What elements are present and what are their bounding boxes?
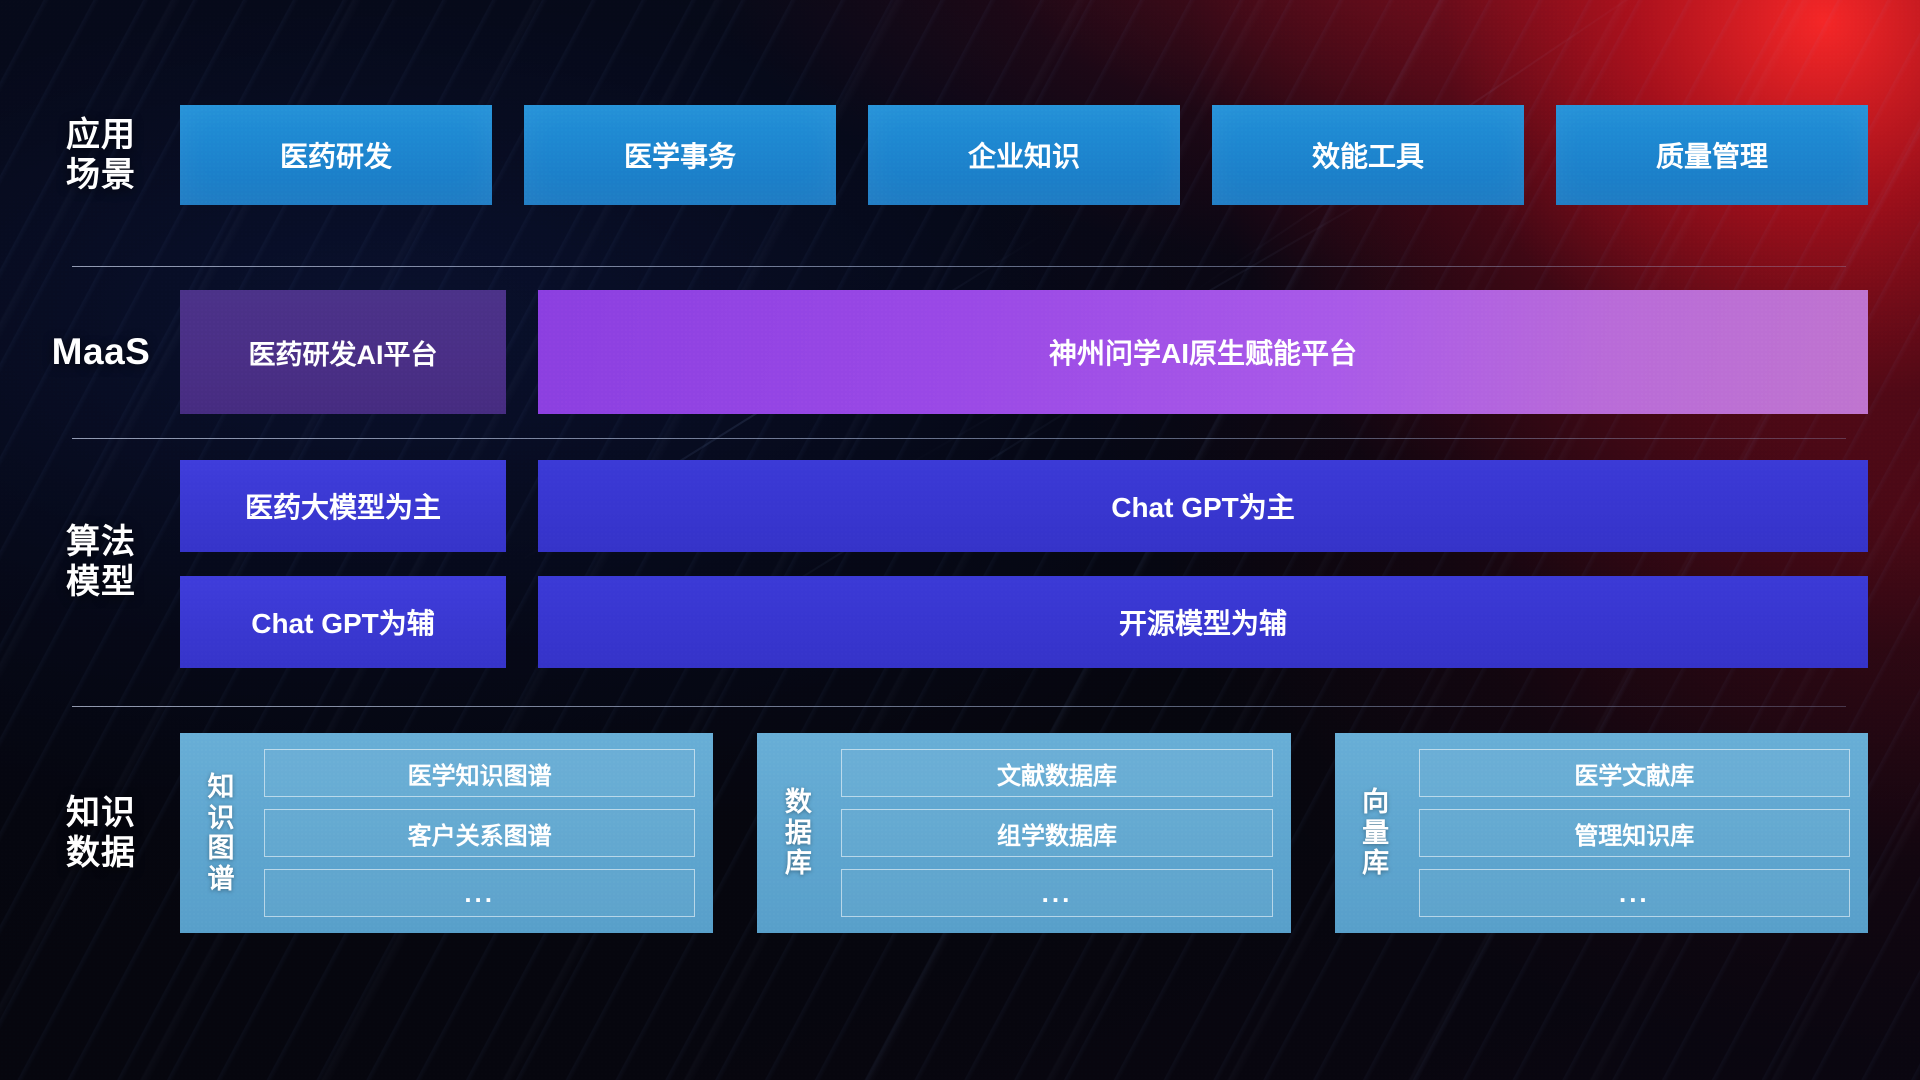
diagram-canvas: 应用 场景 医药研发 医学事务 企业知识 效能工具 质量管理 MaaS (0, 0, 1920, 1080)
knowledge-card-database[interactable]: 数 据 库 文献数据库 组学数据库 ... (757, 733, 1290, 933)
knowledge-item-label: 文献数据库 (997, 756, 1117, 791)
knowledge-item-more[interactable]: ... (841, 869, 1272, 917)
maas-box-medicine-ai-platform[interactable]: 医药研发AI平台 (180, 290, 506, 414)
vlabel-char: 数 (785, 787, 812, 818)
knowledge-item-label: ... (1042, 878, 1073, 909)
knowledge-item[interactable]: 管理知识库 (1419, 809, 1850, 857)
knowledge-card-vertical-label: 向 量 库 (1345, 745, 1407, 921)
algo-box-label: Chat GPT为辅 (251, 602, 435, 642)
row-label-application-line2: 场景 (22, 155, 180, 195)
row-label-application-line1: 应用 (22, 115, 180, 155)
app-box-label: 医学事务 (624, 135, 736, 175)
vlabel-char: 库 (785, 848, 812, 879)
algo-box-opensource-secondary[interactable]: 开源模型为辅 (538, 576, 1868, 668)
algo-box-label: Chat GPT为主 (1111, 486, 1295, 526)
knowledge-item-label: 客户关系图谱 (408, 816, 552, 851)
app-box-label: 医药研发 (280, 135, 392, 175)
vlabel-char: 知 (208, 772, 235, 803)
maas-boxes-container: 医药研发AI平台 神州问学AI原生赋能平台 (180, 290, 1920, 414)
knowledge-item[interactable]: 医学文献库 (1419, 749, 1850, 797)
algorithm-row-secondary: Chat GPT为辅 开源模型为辅 (180, 576, 1868, 668)
knowledge-item-label: 组学数据库 (997, 816, 1117, 851)
vlabel-char: 图 (208, 833, 235, 864)
knowledge-item-label: ... (1619, 878, 1650, 909)
knowledge-card-items: 文献数据库 组学数据库 ... (829, 745, 1276, 921)
divider-after-maas (72, 438, 1846, 439)
algo-box-chatgpt-secondary[interactable]: Chat GPT为辅 (180, 576, 506, 668)
app-box-label: 质量管理 (1656, 135, 1768, 175)
vlabel-char: 据 (785, 818, 812, 849)
knowledge-item-label: 医学知识图谱 (408, 756, 552, 791)
row-label-algorithm-line2: 模型 (22, 562, 180, 602)
knowledge-card-items: 医学文献库 管理知识库 ... (1407, 745, 1854, 921)
row-label-knowledge-line1: 知识 (22, 793, 180, 833)
app-box-medical-affairs[interactable]: 医学事务 (524, 105, 836, 205)
knowledge-cards-container: 知 识 图 谱 医学知识图谱 客户关系图谱 ... (180, 733, 1920, 933)
app-box-efficiency-tools[interactable]: 效能工具 (1212, 105, 1524, 205)
row-label-maas: MaaS (0, 330, 180, 374)
knowledge-item-more[interactable]: ... (1419, 869, 1850, 917)
algo-box-medicine-llm-primary[interactable]: 医药大模型为主 (180, 460, 506, 552)
knowledge-card-vector-store[interactable]: 向 量 库 医学文献库 管理知识库 ... (1335, 733, 1868, 933)
divider-after-application (72, 266, 1846, 267)
row-label-algorithm-line1: 算法 (22, 522, 180, 562)
app-box-medicine-rnd[interactable]: 医药研发 (180, 105, 492, 205)
knowledge-item[interactable]: 组学数据库 (841, 809, 1272, 857)
maas-box-label: 医药研发AI平台 (249, 333, 438, 372)
knowledge-item[interactable]: 文献数据库 (841, 749, 1272, 797)
app-box-enterprise-knowledge[interactable]: 企业知识 (868, 105, 1180, 205)
application-boxes-container: 医药研发 医学事务 企业知识 效能工具 质量管理 (180, 105, 1920, 205)
row-label-maas-text: MaaS (22, 330, 180, 374)
knowledge-item[interactable]: 医学知识图谱 (264, 749, 695, 797)
knowledge-card-knowledge-graph[interactable]: 知 识 图 谱 医学知识图谱 客户关系图谱 ... (180, 733, 713, 933)
vlabel-char: 量 (1362, 818, 1389, 849)
layer-application-scenarios: 应用 场景 医药研发 医学事务 企业知识 效能工具 质量管理 (0, 105, 1920, 205)
knowledge-item-label: 管理知识库 (1574, 816, 1694, 851)
algorithm-row-primary: 医药大模型为主 Chat GPT为主 (180, 460, 1868, 552)
algorithm-rows-container: 医药大模型为主 Chat GPT为主 Chat GPT为辅 开源模型为辅 (180, 460, 1920, 668)
vlabel-char: 向 (1362, 787, 1389, 818)
app-box-label: 企业知识 (968, 135, 1080, 175)
layer-maas: MaaS 医药研发AI平台 神州问学AI原生赋能平台 (0, 290, 1920, 414)
vlabel-char: 谱 (208, 864, 235, 895)
row-label-knowledge-line2: 数据 (22, 833, 180, 873)
knowledge-card-vertical-label: 知 识 图 谱 (190, 745, 252, 921)
knowledge-item-label: ... (464, 878, 495, 909)
vlabel-char: 识 (208, 803, 235, 834)
knowledge-card-items: 医学知识图谱 客户关系图谱 ... (252, 745, 699, 921)
layer-knowledge-data: 知识 数据 知 识 图 谱 医学知识图谱 客户关系图谱 (0, 733, 1920, 933)
maas-box-label: 神州问学AI原生赋能平台 (1049, 332, 1357, 372)
row-label-knowledge: 知识 数据 (0, 793, 180, 873)
knowledge-card-vertical-label: 数 据 库 (767, 745, 829, 921)
maas-box-shenzhou-wenxue-platform[interactable]: 神州问学AI原生赋能平台 (538, 290, 1868, 414)
knowledge-item-more[interactable]: ... (264, 869, 695, 917)
knowledge-item-label: 医学文献库 (1574, 756, 1694, 791)
algo-box-chatgpt-primary[interactable]: Chat GPT为主 (538, 460, 1868, 552)
knowledge-item[interactable]: 客户关系图谱 (264, 809, 695, 857)
algo-box-label: 开源模型为辅 (1119, 602, 1287, 642)
app-box-quality-management[interactable]: 质量管理 (1556, 105, 1868, 205)
row-label-application: 应用 场景 (0, 115, 180, 195)
divider-after-algorithm (72, 706, 1846, 707)
row-label-algorithm: 算法 模型 (0, 460, 180, 602)
layer-algorithm-models: 算法 模型 医药大模型为主 Chat GPT为主 Chat GPT为辅 开源模型… (0, 460, 1920, 670)
algo-box-label: 医药大模型为主 (245, 486, 441, 526)
app-box-label: 效能工具 (1312, 135, 1424, 175)
vlabel-char: 库 (1362, 848, 1389, 879)
